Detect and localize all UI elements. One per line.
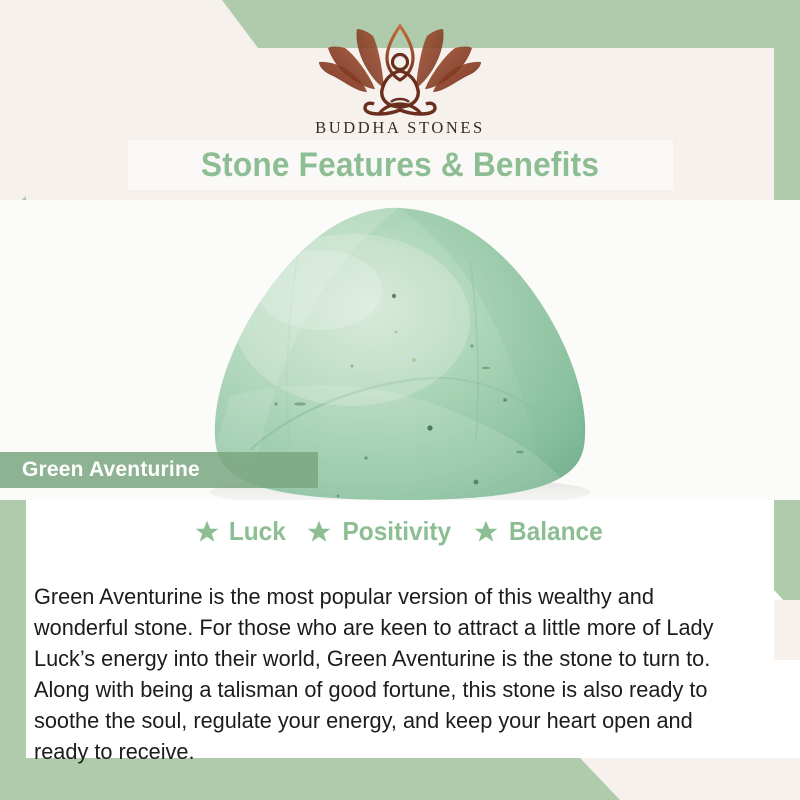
stone-label-banner: Green Aventurine (0, 452, 318, 488)
benefits-row: Luck Positivity Balance (0, 516, 800, 547)
stone-description: Green Aventurine is the most popular ver… (34, 581, 746, 767)
benefit-item-balance: Balance (473, 516, 606, 547)
benefit-item-luck: Luck (194, 516, 288, 547)
cream-right-sliver (774, 600, 800, 660)
stone-label-text: Green Aventurine (0, 458, 200, 482)
lotus-meditation-figure-icon (317, 24, 483, 116)
star-icon (473, 519, 499, 545)
benefit-label: Positivity (343, 516, 452, 547)
page-title: Stone Features & Benefits (28, 140, 772, 190)
star-icon (194, 519, 220, 545)
header: BUDDHA STONES Stone Features & Benefits (0, 0, 800, 200)
stone-info-card: BUDDHA STONES Stone Features & Benefits (0, 0, 800, 800)
brand-name: BUDDHA STONES (295, 118, 505, 138)
benefit-label: Luck (229, 516, 286, 547)
benefit-label: Balance (509, 516, 603, 547)
benefit-item-positivity: Positivity (306, 516, 455, 547)
star-icon (306, 519, 332, 545)
brand-logo: BUDDHA STONES (295, 24, 505, 138)
